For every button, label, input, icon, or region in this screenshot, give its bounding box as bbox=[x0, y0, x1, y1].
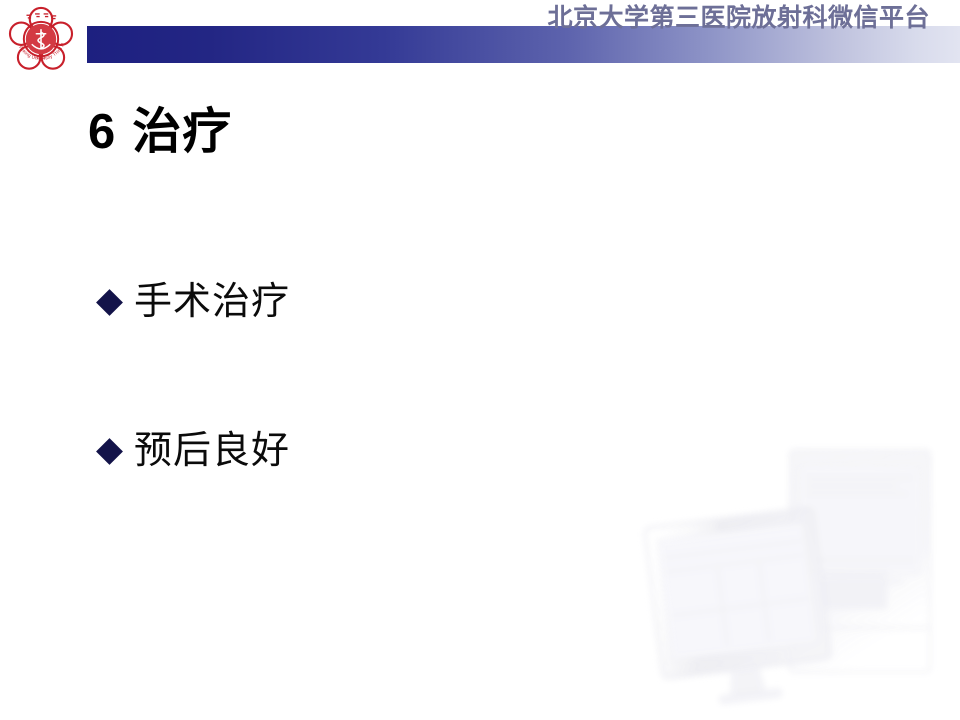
computer-monitors-watermark: H bbox=[612, 432, 960, 720]
bullet-label: 预后良好 bbox=[134, 432, 290, 470]
bullet-label: 手术治疗 bbox=[134, 283, 290, 321]
page-title: 6治疗 bbox=[88, 92, 232, 163]
diamond-bullet-icon bbox=[96, 438, 123, 465]
page-title-number: 6 bbox=[88, 105, 116, 159]
page-title-text: 治疗 bbox=[132, 105, 232, 159]
svg-text:1958: 1958 bbox=[37, 55, 47, 60]
bullet-item-surgical-treatment: 手术治疗 bbox=[100, 283, 290, 321]
svg-text:H: H bbox=[717, 520, 725, 531]
header-title: 北京大学第三医院放射科微信平台 bbox=[0, 0, 960, 37]
presentation-slide: Peking University Third Hospital 1958 北京… bbox=[0, 0, 960, 720]
diamond-bullet-icon bbox=[96, 289, 123, 316]
bullet-item-good-prognosis: 预后良好 bbox=[100, 432, 290, 470]
